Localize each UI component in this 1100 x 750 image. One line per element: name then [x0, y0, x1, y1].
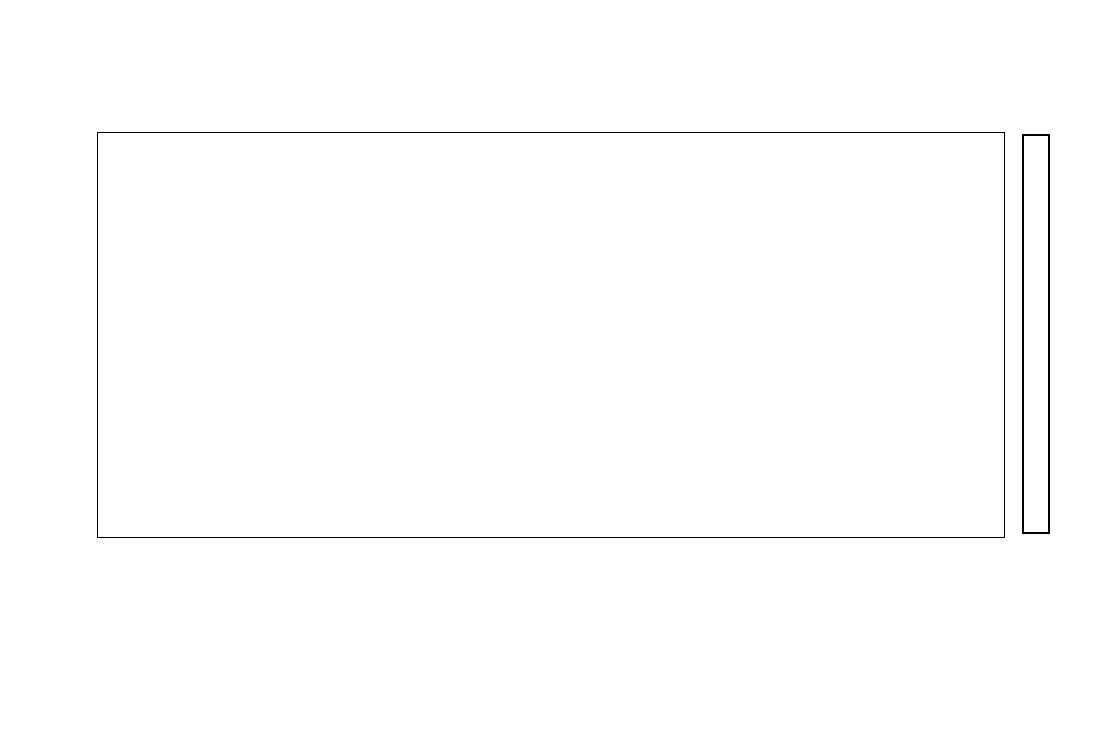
heatmap-canvas [98, 133, 1004, 537]
heatmap-plot-area [97, 132, 1005, 538]
colorbar [1022, 134, 1050, 534]
colorbar-canvas [1024, 136, 1048, 532]
